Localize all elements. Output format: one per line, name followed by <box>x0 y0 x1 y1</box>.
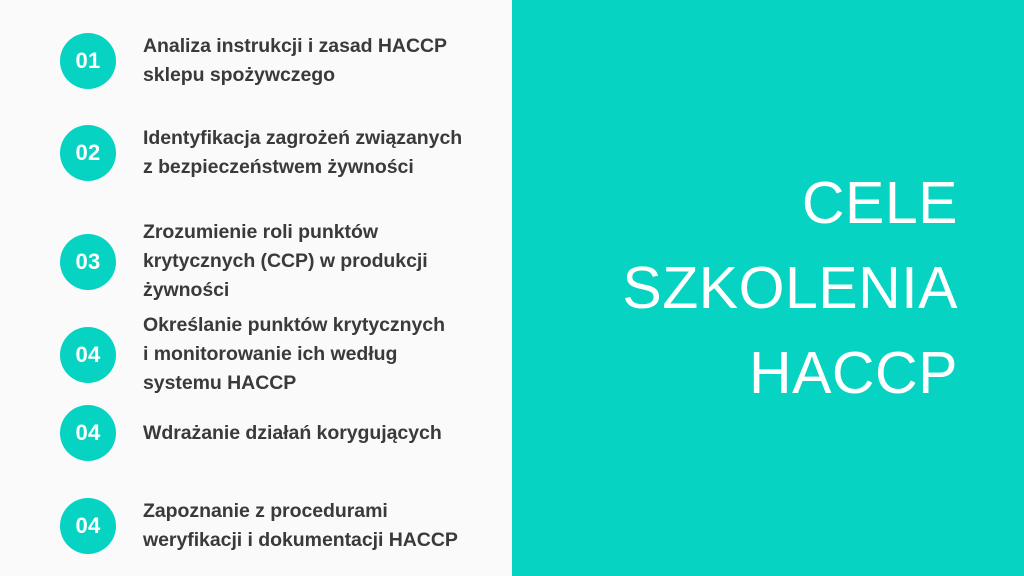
objective-number-badge: 04 <box>60 498 116 554</box>
objective-label: Analiza instrukcji i zasad HACCP sklepu … <box>143 32 447 90</box>
objective-number-badge: 01 <box>60 33 116 89</box>
objective-number-badge: 04 <box>60 405 116 461</box>
objectives-panel: 01 Analiza instrukcji i zasad HACCP skle… <box>0 0 512 576</box>
objective-label: Wdrażanie działań korygujących <box>143 419 442 448</box>
objective-number-badge: 02 <box>60 125 116 181</box>
objective-number-badge: 04 <box>60 327 116 383</box>
objective-label: Zrozumienie roli punktów krytycznych (CC… <box>143 218 428 305</box>
objective-item-6: 04 Zapoznanie z procedurami weryfikacji … <box>60 497 500 555</box>
objective-item-1: 01 Analiza instrukcji i zasad HACCP skle… <box>60 32 500 90</box>
objective-label: Zapoznanie z procedurami weryfikacji i d… <box>143 497 458 555</box>
objective-item-3: 03 Zrozumienie roli punktów krytycznych … <box>60 218 500 305</box>
objective-item-2: 02 Identyfikacja zagrożeń związanych z b… <box>60 124 500 182</box>
slide-title: CELE SZKOLENIA HACCP <box>622 161 958 416</box>
objective-label: Identyfikacja zagrożeń związanych z bezp… <box>143 124 462 182</box>
objective-label: Określanie punktów krytycznych i monitor… <box>143 311 445 398</box>
objective-item-5: 04 Wdrażanie działań korygujących <box>60 405 500 461</box>
slide: 01 Analiza instrukcji i zasad HACCP skle… <box>0 0 1024 576</box>
objective-item-4: 04 Określanie punktów krytycznych i moni… <box>60 311 500 398</box>
title-panel: CELE SZKOLENIA HACCP <box>512 0 1024 576</box>
objective-number-badge: 03 <box>60 234 116 290</box>
